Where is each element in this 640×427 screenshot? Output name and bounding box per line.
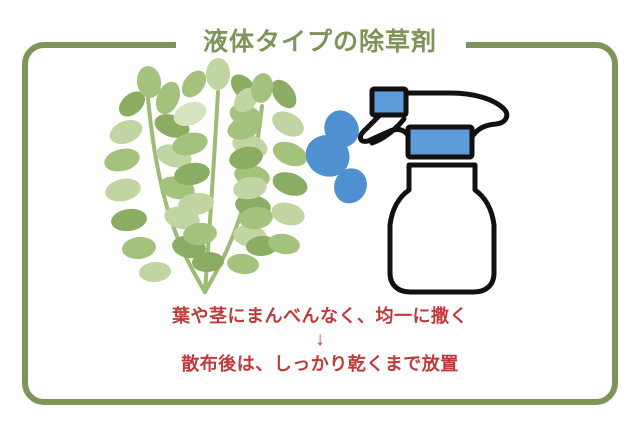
weed-plant-icon [102, 58, 311, 292]
down-arrow-icon: ↓ [0, 329, 640, 351]
spray-droplets-icon [305, 104, 373, 208]
illustration-area [22, 48, 618, 298]
caption-line-1: 葉や茎にまんべんなく、均一に撒く [0, 303, 640, 329]
spray-bottle-icon [361, 89, 507, 292]
caption-block: 葉や茎にまんべんなく、均一に撒く ↓ 散布後は、しっかり乾くまで放置 [0, 303, 640, 377]
caption-line-2: 散布後は、しっかり乾くまで放置 [0, 351, 640, 377]
